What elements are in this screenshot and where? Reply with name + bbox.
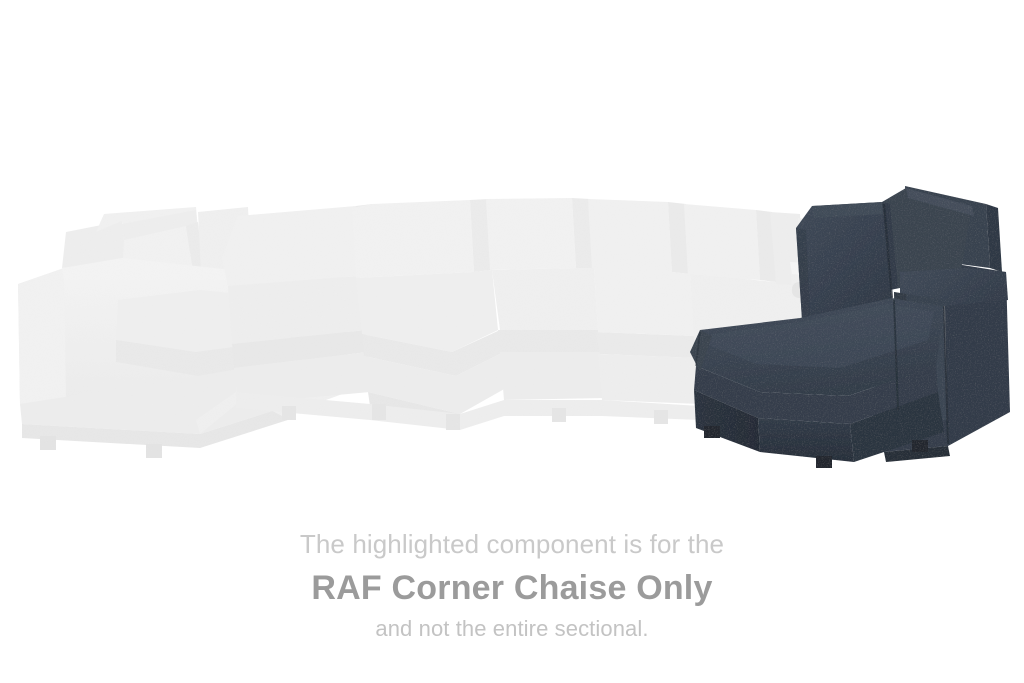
chaise-plinth-front [758, 418, 854, 462]
chaise-foot-right [912, 440, 928, 452]
chaise-foot-left [704, 426, 720, 438]
sectional-illustration [0, 0, 1024, 500]
caption-headline: RAF Corner Chaise Only [0, 566, 1024, 610]
product-image-canvas: The highlighted component is for the RAF… [0, 0, 1024, 683]
caption-line-bottom: and not the entire sectional. [0, 614, 1024, 644]
chaise-foot-mid [816, 456, 832, 468]
ghost-armless-left [222, 204, 376, 404]
caption-line-top: The highlighted component is for the [0, 528, 1024, 560]
caption: The highlighted component is for the RAF… [0, 528, 1024, 644]
